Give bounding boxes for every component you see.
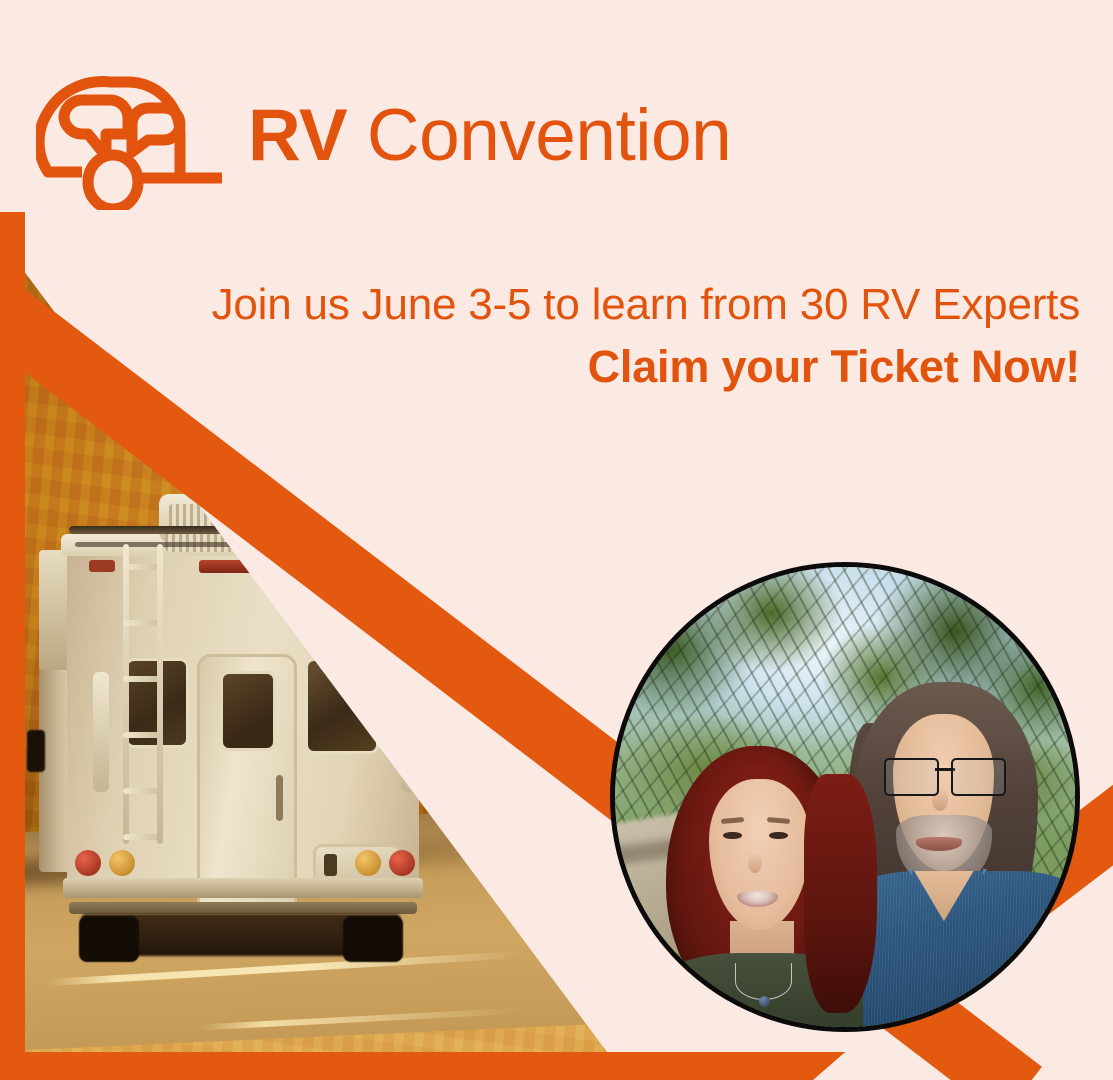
brand-name: RV Convention	[248, 99, 731, 172]
rv-convention-promo-poster: RV Convention Join us June 3-5 to learn …	[0, 0, 1113, 1080]
rv-marker-light	[89, 560, 115, 572]
rv-pole-right	[401, 672, 417, 792]
rv-pole-left	[93, 672, 109, 792]
rv-caravan-speech-bubble-icon	[36, 60, 232, 210]
headline-line-2-cta[interactable]: Claim your Ticket Now!	[212, 340, 1080, 395]
woman-necklace-pendant	[759, 996, 770, 1007]
woman-necklace	[735, 963, 792, 1001]
man-eyeglasses-icon	[884, 758, 1006, 793]
rv-door-window	[220, 671, 276, 751]
rv-side-mirror	[27, 730, 45, 772]
rv-window-right	[305, 658, 379, 754]
rv-tail-lights	[75, 850, 415, 876]
hosts-portrait-circle	[610, 562, 1080, 1032]
headline-line-1: Join us June 3-5 to learn from 30 RV Exp…	[212, 278, 1080, 332]
rv-bumper	[63, 878, 423, 898]
brand-name-light: Convention	[367, 95, 731, 176]
woman-hair-front-strand	[804, 774, 878, 1013]
rv-slide-out	[39, 550, 69, 670]
brand-name-bold: RV	[248, 95, 347, 176]
rv-wheel-right	[343, 916, 403, 962]
rv-bumper-lower	[69, 902, 417, 914]
rv-door-handle	[276, 775, 283, 821]
rv-wheel-left	[79, 916, 139, 962]
rv-rear-ladder	[123, 544, 163, 844]
woman-nose	[748, 852, 762, 873]
headline-block: Join us June 3-5 to learn from 30 RV Exp…	[212, 278, 1080, 395]
brand-logo[interactable]: RV Convention	[36, 60, 731, 210]
